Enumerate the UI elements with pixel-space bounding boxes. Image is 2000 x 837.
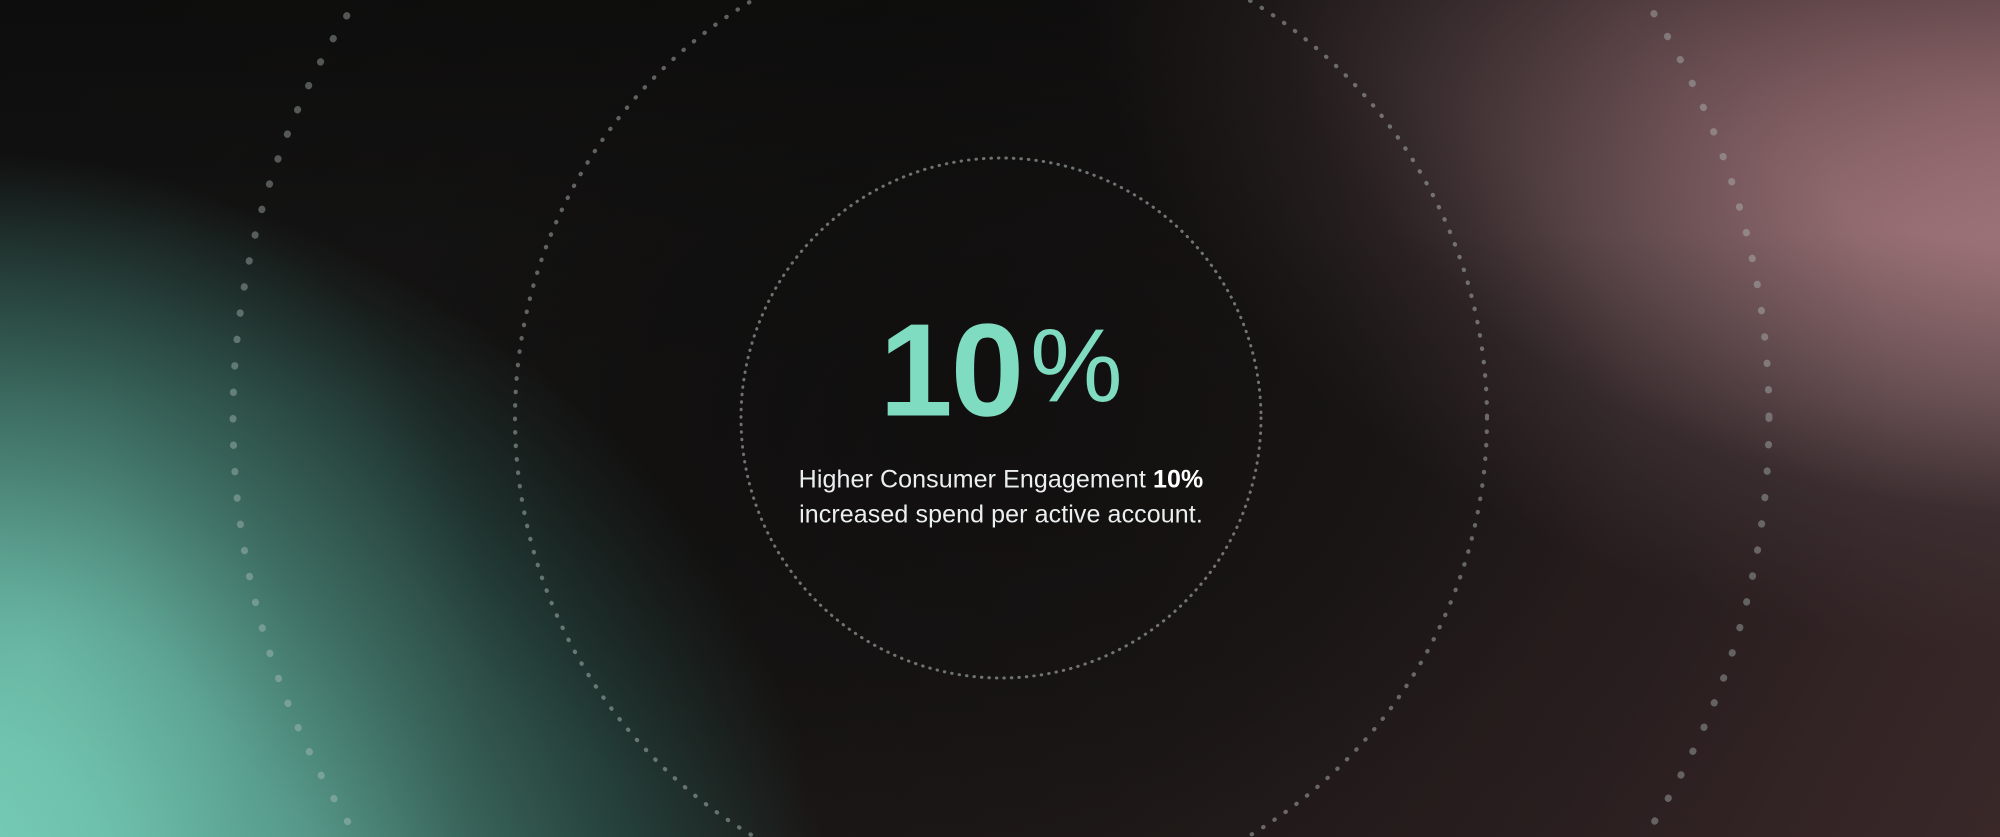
percent-symbol-icon: %: [1030, 315, 1122, 419]
stat-number: 10: [879, 305, 1022, 437]
stat-description-line-1: Higher Consumer: [799, 466, 996, 494]
stat-description-line-3: spend per active account.: [915, 500, 1202, 528]
stat-description-emphasis: 10%: [1153, 466, 1203, 494]
stat-description: Higher Consumer Engagement 10% increased…: [791, 463, 1211, 532]
stat-value: 10 %: [681, 305, 1321, 437]
stat-hero-banner: 10 % Higher Consumer Engagement 10% incr…: [0, 0, 2000, 837]
stat-description-line-2-suffix: increased: [799, 500, 908, 528]
stat-description-line-2-prefix: Engagement: [1003, 466, 1153, 494]
stat-content: 10 % Higher Consumer Engagement 10% incr…: [681, 305, 1321, 532]
